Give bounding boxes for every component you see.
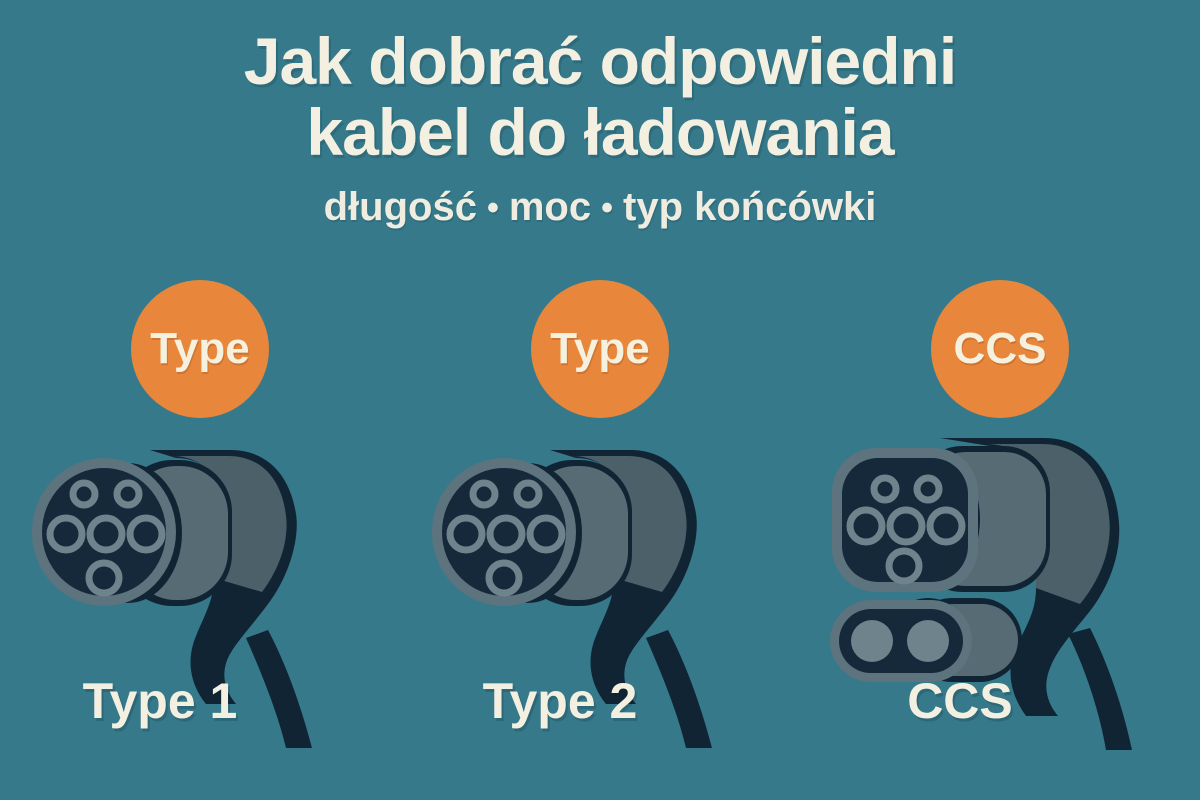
connector-column-type1: Type <box>0 280 400 800</box>
page-title: Jak dobrać odpowiedni kabel do ładowania <box>150 26 1050 169</box>
bullet-separator-icon: • <box>477 189 509 228</box>
subtitle-part-length: długość <box>324 185 477 229</box>
connector-column-type2: Type <box>400 280 800 800</box>
title-line-2: kabel do ładowania <box>150 97 1050 168</box>
badge-ccs: CCS <box>931 280 1069 418</box>
subtitle-part-power: moc <box>509 185 591 229</box>
badge-type1: Type <box>131 280 269 418</box>
bullet-separator-icon: • <box>591 189 623 228</box>
connector-label-type1: Type 1 <box>0 672 400 730</box>
subtitle: długość•moc•typ końcówki <box>0 185 1200 230</box>
badge-type2: Type <box>531 280 669 418</box>
connector-label-ccs: CCS <box>800 672 1200 730</box>
badge-label: Type <box>550 324 649 374</box>
badge-label: Type <box>150 324 249 374</box>
subtitle-part-plug-type: typ końcówki <box>623 185 876 229</box>
connector-column-ccs: CCS <box>800 280 1200 800</box>
connector-columns: Type <box>0 280 1200 800</box>
header: Jak dobrać odpowiedni kabel do ładowania… <box>0 0 1200 230</box>
connector-label-type2: Type 2 <box>400 672 800 730</box>
badge-label: CCS <box>954 324 1047 374</box>
title-line-1: Jak dobrać odpowiedni <box>150 26 1050 97</box>
ev-charging-cable-infographic: Jak dobrać odpowiedni kabel do ładowania… <box>0 0 1200 800</box>
